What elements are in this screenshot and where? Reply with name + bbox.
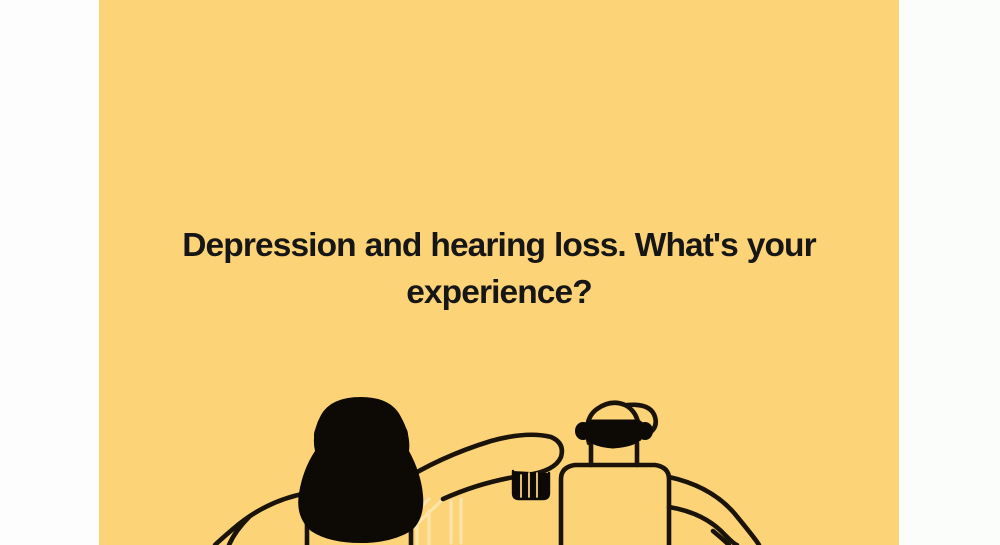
right-figure	[561, 403, 759, 545]
two-people-illustration	[99, 395, 899, 545]
right-gutter	[899, 0, 1000, 545]
hand-fingers	[513, 471, 549, 499]
page-title: Depression and hearing loss. What's your…	[99, 222, 899, 316]
yellow-poster-card: Depression and hearing loss. What's your…	[99, 0, 899, 545]
left-figure	[215, 397, 562, 545]
left-gutter	[0, 0, 99, 545]
illustration-group	[215, 397, 759, 545]
screenshot-canvas: Depression and hearing loss. What's your…	[0, 0, 1000, 545]
